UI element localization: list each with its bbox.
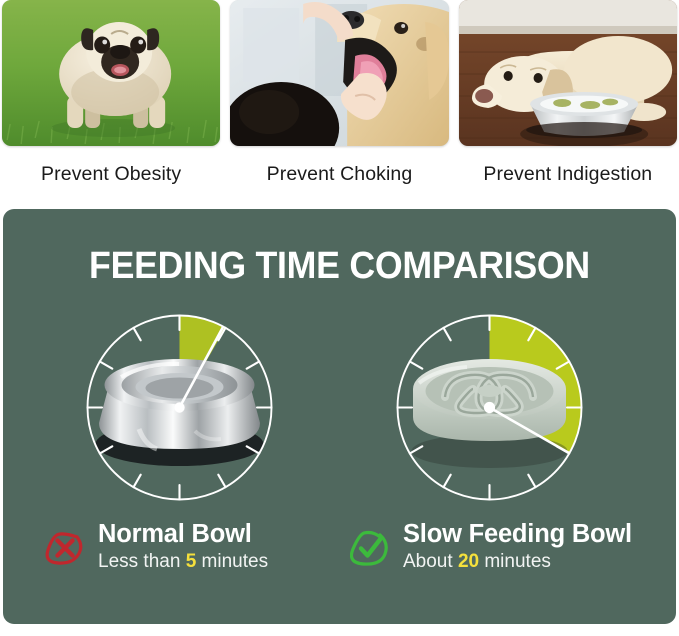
overweight-pug-on-grass-photo xyxy=(2,0,220,146)
result-time-value-slow: 20 xyxy=(458,551,479,572)
benefit-label-indigestion: Prevent Indigestion xyxy=(483,163,652,186)
dials-row xyxy=(3,305,676,510)
result-time-slow-feeding-bowl: About 20 minutes xyxy=(403,550,632,575)
result-slow-feeding-bowl: Slow Feeding Bowl About 20 minutes xyxy=(350,521,632,574)
slow-feeding-bowl-dial xyxy=(387,305,592,510)
sad-labrador-beside-food-bowl-photo xyxy=(459,0,677,146)
benefit-card-indigestion[interactable]: Prevent Indigestion xyxy=(459,0,677,196)
benefit-card-choking[interactable]: Prevent Choking xyxy=(230,0,448,196)
circle-x-icon xyxy=(45,528,85,568)
result-name-normal-bowl: Normal Bowl xyxy=(98,521,268,549)
result-name-slow-feeding-bowl: Slow Feeding Bowl xyxy=(403,521,632,549)
feeding-time-comparison-panel: FEEDING TIME COMPARISON xyxy=(3,209,676,624)
benefits-row: Prevent Obesity xyxy=(0,0,679,196)
result-normal-bowl: Normal Bowl Less than 5 minutes xyxy=(45,521,268,574)
result-time-value-normal: 5 xyxy=(186,551,197,572)
results-row: Normal Bowl Less than 5 minutes Slow Fee… xyxy=(3,521,676,601)
benefit-card-obesity[interactable]: Prevent Obesity xyxy=(2,0,220,196)
benefit-label-choking: Prevent Choking xyxy=(267,163,413,186)
normal-bowl-dial xyxy=(77,305,282,510)
vet-checking-dog-mouth-photo xyxy=(230,0,448,146)
page-title: FEEDING TIME COMPARISON xyxy=(23,245,656,288)
circle-check-icon xyxy=(350,528,390,568)
benefit-label-obesity: Prevent Obesity xyxy=(41,163,181,186)
result-time-normal-bowl: Less than 5 minutes xyxy=(98,550,268,575)
